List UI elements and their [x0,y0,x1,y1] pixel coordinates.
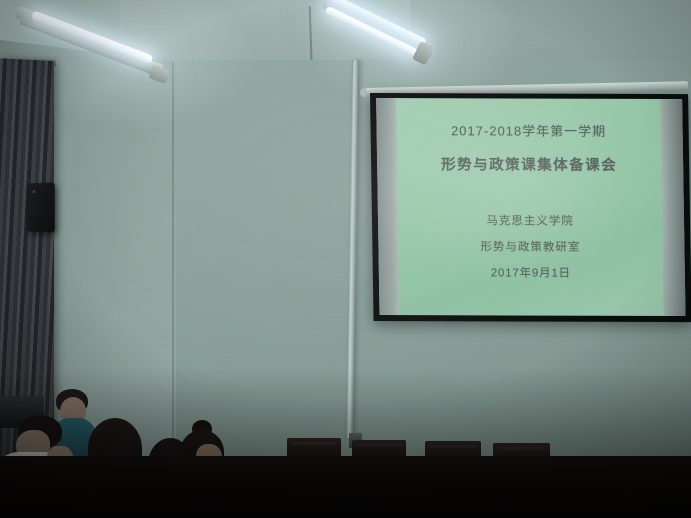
wall-corner-line [172,62,174,452]
projection-screen-frame: 2017-2018学年第一学期 形势与政策课集体备课会 马克思主义学院 形势与政… [370,93,691,322]
slide-org-line-1: 马克思主义学院 [480,212,580,228]
slide-title-block: 2017-2018学年第一学期 形势与政策课集体备课会 [440,120,617,175]
screen-edge-strip-right [660,99,685,316]
wall-speaker [27,182,55,232]
slide-title-line-2: 形势与政策课集体备课会 [441,153,617,175]
classroom-photo-scene: 2017-2018学年第一学期 形势与政策课集体备课会 马克思主义学院 形势与政… [0,0,691,518]
slide-subtitle-block: 马克思主义学院 形势与政策教研室 2017年9月1日 [480,212,581,280]
slide-title-line-1: 2017-2018学年第一学期 [440,120,616,140]
floor-shadow [0,456,691,518]
projection-screen-surface: 2017-2018学年第一学期 形势与政策课集体备课会 马克思主义学院 形势与政… [376,98,685,316]
slide-date-line: 2017年9月1日 [481,264,581,280]
slide-content: 2017-2018学年第一学期 形势与政策课集体备课会 马克思主义学院 形势与政… [396,98,663,316]
speaker-led-icon [32,190,35,193]
slide-org-line-2: 形势与政策教研室 [480,238,580,254]
